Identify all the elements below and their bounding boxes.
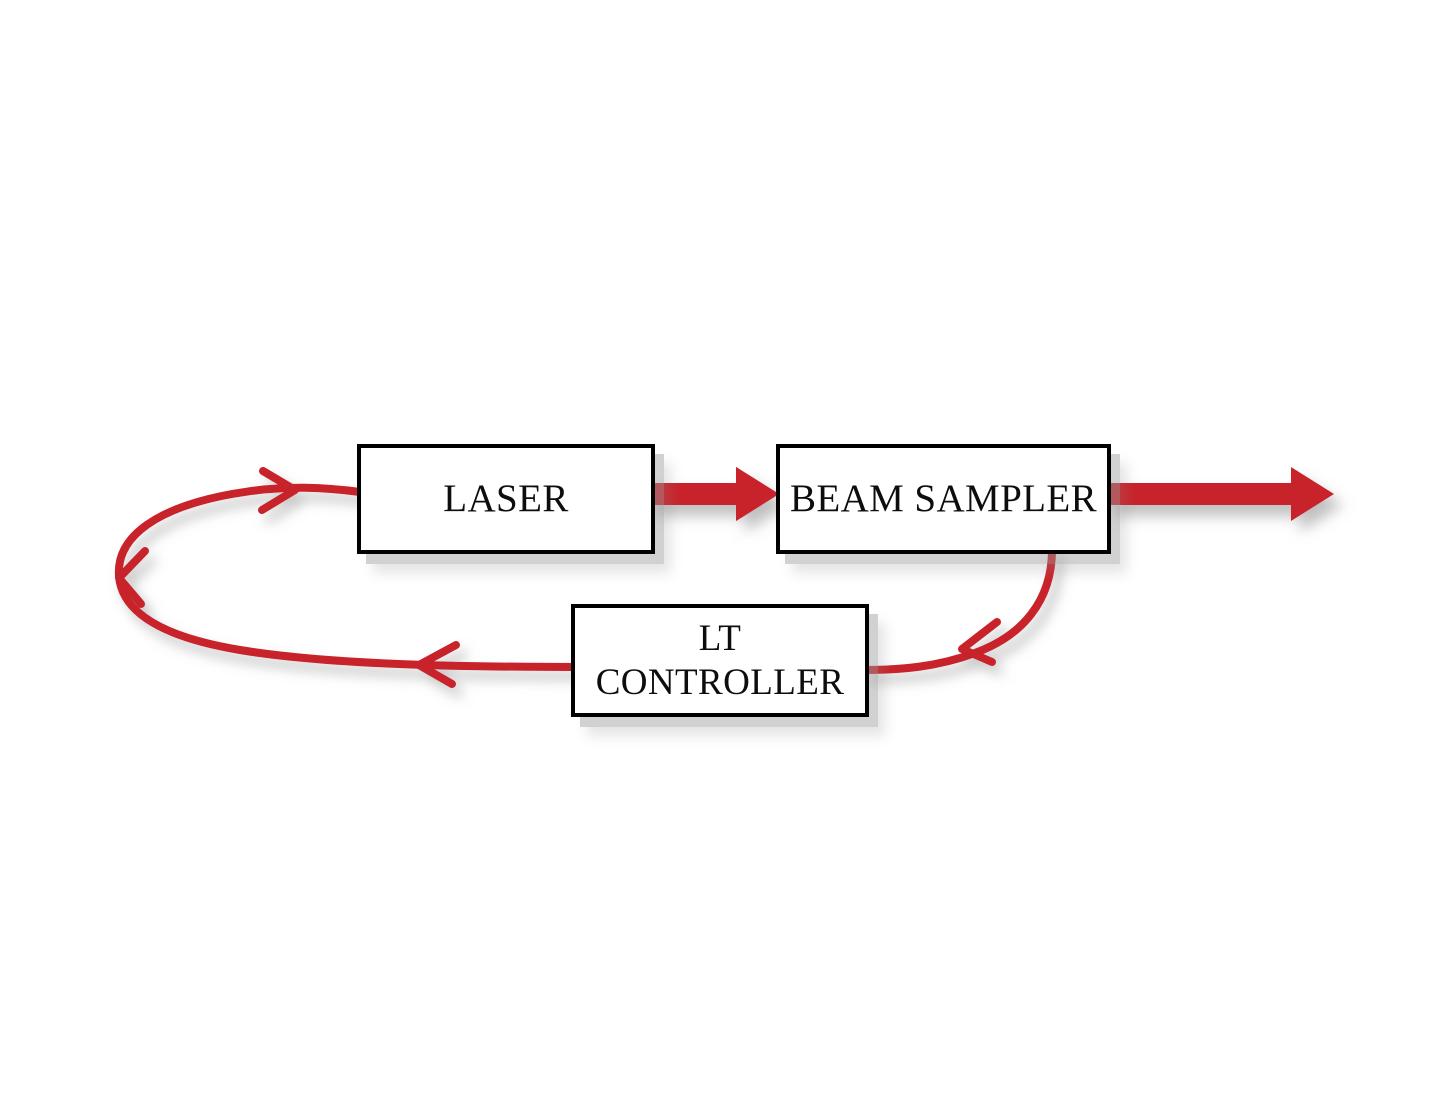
connection-beam-sampler-to-lt-controller bbox=[866, 550, 1052, 670]
node-laser-label: LASER bbox=[443, 476, 569, 522]
connection-laser-to-beam-sampler bbox=[645, 467, 779, 521]
node-lt-controller[interactable]: LT CONTROLLER bbox=[571, 604, 869, 717]
node-lt-controller-label: LT CONTROLLER bbox=[596, 617, 845, 704]
diagram-canvas: LASER BEAM SAMPLER LT CONTROLLER bbox=[0, 0, 1440, 1113]
diagram-connections-layer bbox=[0, 0, 1440, 1113]
node-beam-sampler[interactable]: BEAM SAMPLER bbox=[776, 444, 1111, 554]
connection-beam-sampler-output bbox=[1105, 467, 1334, 521]
node-beam-sampler-label: BEAM SAMPLER bbox=[790, 476, 1097, 522]
node-laser[interactable]: LASER bbox=[357, 444, 655, 554]
